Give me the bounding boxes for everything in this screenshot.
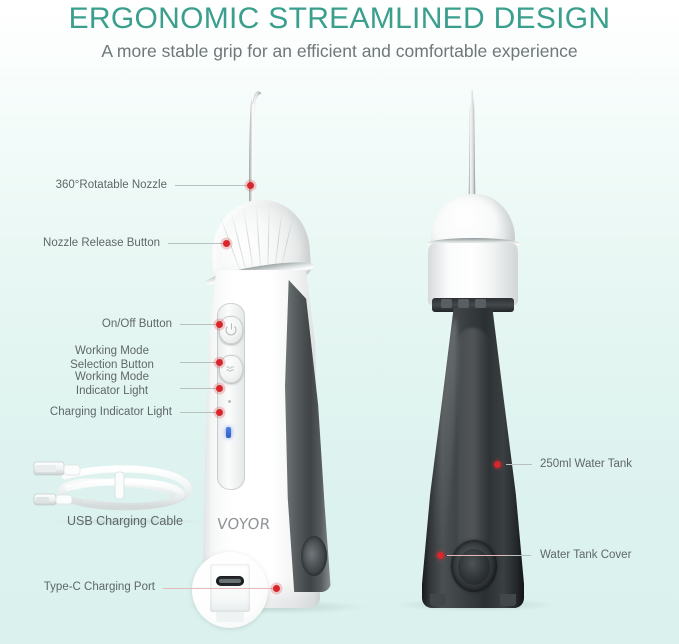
product-infographic: ERGONOMIC STREAMLINED DESIGN A more stab… [0,0,679,644]
dark-water-flosser [398,88,548,608]
power-icon [226,325,237,336]
callout-dot-on-off [216,321,223,328]
callout-dot-water-tank [494,461,501,468]
brand-logo: VOYOR [216,515,271,533]
leader-line [447,555,507,556]
leader-line [168,243,223,244]
usb-cable-caption: USB Charging Cable [45,515,205,529]
page-subtitle: A more stable grip for an efficient and … [0,39,679,63]
leader-line [175,185,247,186]
page-title: ERGONOMIC STREAMLINED DESIGN [0,2,679,36]
leader-line [506,464,532,465]
callout-dot-water-tank-cover [437,552,444,559]
callout-label-water-tank-cover: Water Tank Cover [540,549,679,563]
callout-dot-mode-selection [216,359,223,366]
rotatable-nozzle-dark [466,89,478,209]
tank-notch [475,299,486,308]
callout-label-nozzle-release: Nozzle Release Button [0,237,160,251]
tank-notch [441,299,452,308]
type-c-port-magnifier [192,552,268,628]
tank-foot [500,594,516,606]
callout-dot-type-c-port [273,585,280,592]
tank-notch [458,299,469,308]
working-mode-indicator-light [228,400,231,403]
callout-label-rotatable-nozzle: 360°Rotatable Nozzle [0,179,167,193]
water-wave-icon [226,365,236,373]
leader-line [180,388,216,389]
callout-dot-charging-indicator [216,409,223,416]
mode-selection-button[interactable] [219,355,243,383]
callout-dot-nozzle-release [223,240,230,247]
tank-foot [430,594,446,606]
callout-dot-rotatable-nozzle [247,182,254,189]
callout-dot-mode-indicator [216,385,223,392]
callout-label-water-tank: 250ml Water Tank [540,458,679,472]
leader-line [180,412,216,413]
callout-label-mode-selection: Working Mode Selection Button [52,345,172,372]
leader-line [163,588,273,589]
leader-line [180,362,216,363]
callout-label-on-off-button: On/Off Button [0,318,172,332]
white-water-flosser: VOYOR [193,88,351,608]
type-c-port-icon [216,576,244,586]
callout-label-charging-indicator: Charging Indicator Light [0,406,172,420]
side-vent-white [301,536,327,576]
header: ERGONOMIC STREAMLINED DESIGN A more stab… [0,0,679,63]
tank-inner-tube [458,328,488,558]
charging-indicator-light [226,427,231,438]
leader-line [507,555,531,556]
power-button[interactable] [219,316,243,344]
callout-label-mode-indicator: Working Mode Indicator Light [52,371,172,398]
port-foot [216,612,244,622]
rotatable-nozzle-white [245,89,267,217]
leader-line [180,324,216,325]
white-collar-dark [428,243,518,305]
callout-label-type-c-port: Type-C Charging Port [0,581,155,595]
